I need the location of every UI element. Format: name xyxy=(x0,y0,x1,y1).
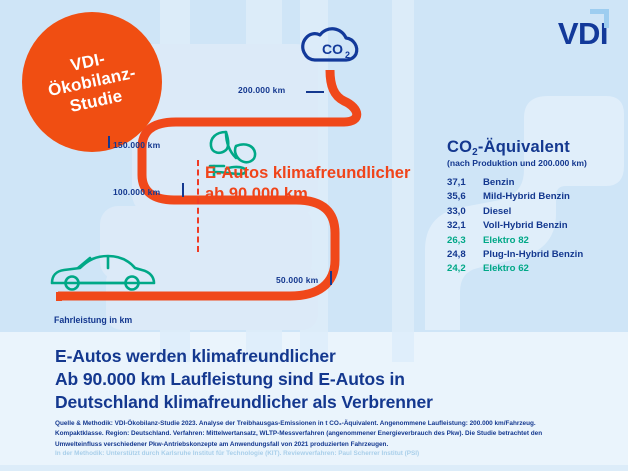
co2-row-name: Elektro 62 xyxy=(483,263,529,274)
co2-row: 37,1 Benzin xyxy=(447,177,627,188)
co2-row-value: 32,1 xyxy=(447,220,483,231)
co2-row: 24,8 Plug-In-Hybrid Benzin xyxy=(447,249,627,260)
co2-row-name: Elektro 82 xyxy=(483,235,529,246)
co2-row-name: Diesel xyxy=(483,206,511,217)
headline-line-1: E-Autos werden klimafreundlicher xyxy=(55,345,433,368)
center-claim-line-2: ab 90.000 km xyxy=(205,184,455,205)
route-end-cap xyxy=(56,292,62,301)
co2-row-value: 24,8 xyxy=(447,249,483,260)
co2-row-name: Mild-Hybrid Benzin xyxy=(483,191,570,202)
axis-tick-50000: 50.000 km xyxy=(276,275,318,285)
co2-row-name: Voll-Hybrid Benzin xyxy=(483,220,568,231)
source-methodology-text: Quelle & Methodik: VDI-Ökobilanz-Studie … xyxy=(55,419,575,450)
headline-line-3: Deutschland klimafreundlicher als Verbre… xyxy=(55,391,433,414)
axis-tick-200000: 200.000 km xyxy=(238,85,285,95)
co2-cloud-sublabel: 2 xyxy=(345,50,350,60)
vdi-logo[interactable]: VDI xyxy=(558,18,608,49)
infographic-canvas: CO 2 VDI- Ökobilanz- xyxy=(0,0,628,471)
co2-row-name: Benzin xyxy=(483,177,514,188)
co2-panel-title: CO2-Äquivalent xyxy=(447,138,627,157)
method-support-text: In der Methodik: Unterstützt durch Karls… xyxy=(55,449,575,459)
center-claim-line-1: E-Autos klimafreundlicher xyxy=(205,163,455,184)
axis-tick-150000: 150.000 km xyxy=(113,140,160,150)
axis-tick-line-200000 xyxy=(306,91,324,93)
co2-row: 24,2 Elektro 62 xyxy=(447,263,627,274)
axis-tick-line-150000 xyxy=(108,136,110,148)
center-claim: E-Autos klimafreundlicher ab 90.000 km xyxy=(205,163,455,205)
corner-bracket-icon xyxy=(590,9,609,28)
co2-cloud-label: CO xyxy=(322,41,343,57)
axis-tick-line-50000 xyxy=(330,271,332,285)
co2-row-name: Plug-In-Hybrid Benzin xyxy=(483,249,583,260)
co2-equivalent-panel: CO2-Äquivalent (nach Produktion und 200.… xyxy=(447,138,627,278)
threshold-dashed-line xyxy=(197,160,199,252)
co2-row-value: 33,0 xyxy=(447,206,483,217)
co2-row-value: 26,3 xyxy=(447,235,483,246)
co2-row-value: 24,2 xyxy=(447,263,483,274)
co2-row: 33,0 Diesel xyxy=(447,206,627,217)
co2-row-value: 37,1 xyxy=(447,177,483,188)
axis-tick-100000: 100.000 km xyxy=(113,187,160,197)
study-badge[interactable] xyxy=(22,12,162,152)
co2-panel-subtitle: (nach Produktion und 200.000 km) xyxy=(447,158,627,168)
co2-row: 32,1 Voll-Hybrid Benzin xyxy=(447,220,627,231)
headline-line-2: Ab 90.000 km Laufleistung sind E-Autos i… xyxy=(55,368,433,391)
co2-title-tail: -Äquivalent xyxy=(478,138,570,156)
co2-title-main: CO xyxy=(447,138,472,156)
axis-caption: Fahrleistung in km xyxy=(54,315,132,325)
summary-headline: E-Autos werden klimafreundlicher Ab 90.0… xyxy=(55,345,433,414)
co2-row: 26,3 Elektro 82 xyxy=(447,235,627,246)
co2-row-value: 35,6 xyxy=(447,191,483,202)
co2-title-sub: 2 xyxy=(472,147,478,158)
co2-row: 35,6 Mild-Hybrid Benzin xyxy=(447,191,627,202)
axis-tick-line-100000 xyxy=(182,183,184,197)
